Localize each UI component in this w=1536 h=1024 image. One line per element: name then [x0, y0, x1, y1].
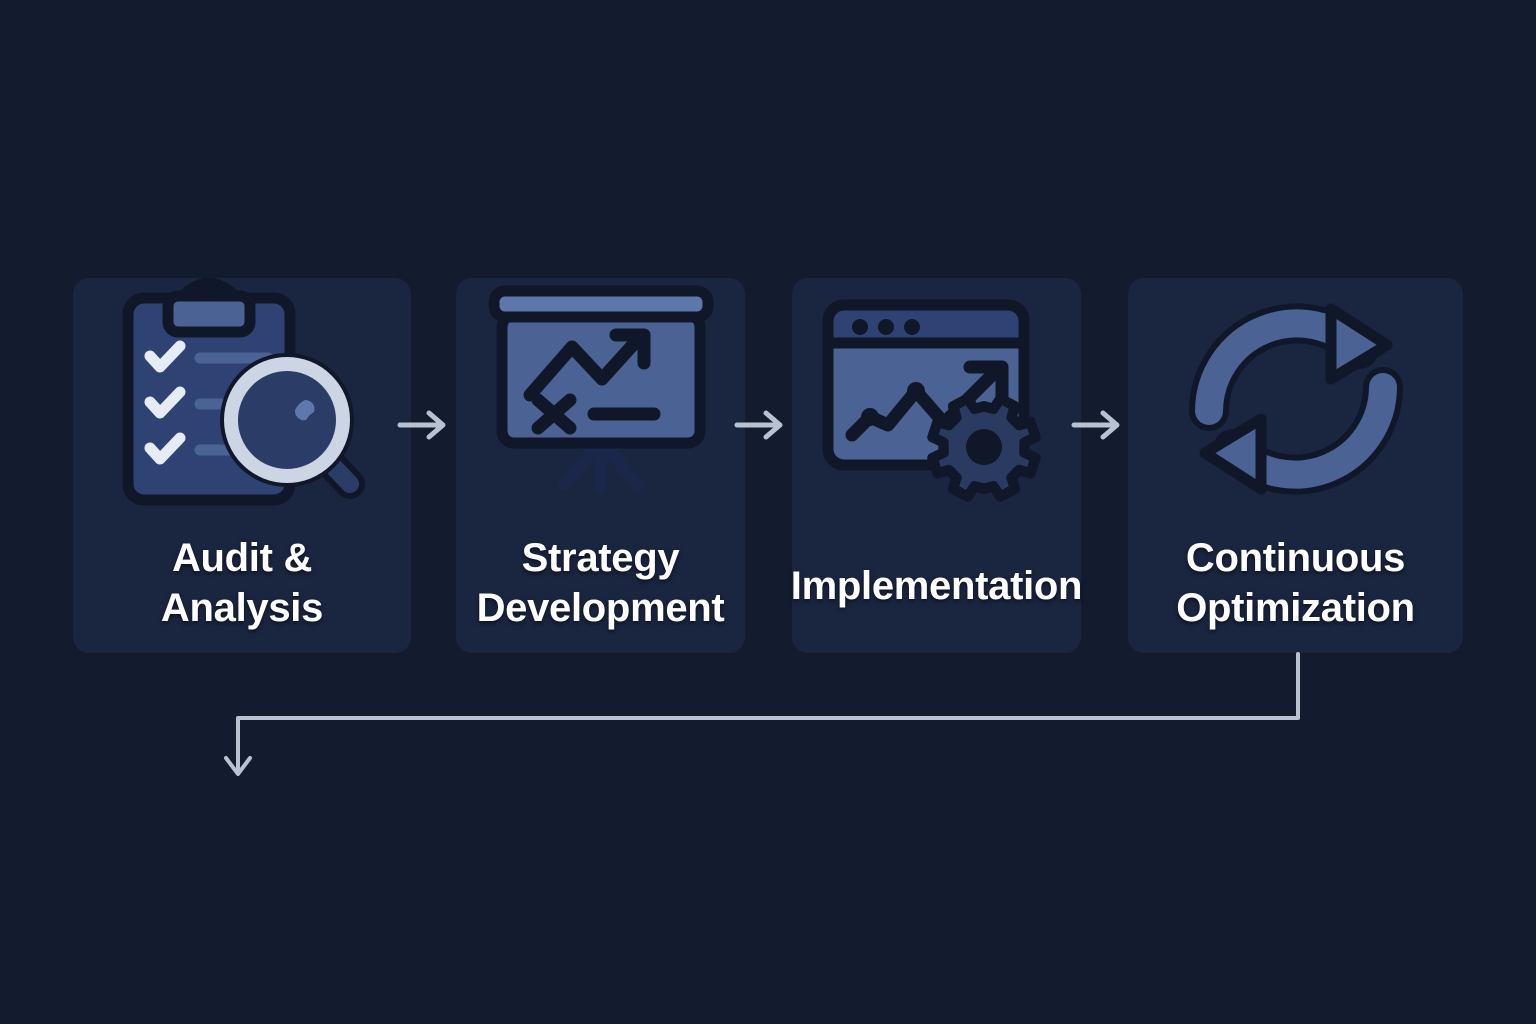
- process-step-label: Strategy Development: [416, 533, 785, 633]
- right-arrow-icon: [1070, 396, 1130, 454]
- titlebar-dots: [852, 319, 920, 335]
- clipboard-checklist-magnifier-icon: [73, 278, 411, 518]
- browser-window-chart-gear-icon: [792, 278, 1081, 518]
- process-step-label: Implementation: [752, 561, 1121, 611]
- process-step-label: Continuous Optimization: [1088, 533, 1503, 633]
- process-step-label: Audit & Analysis: [33, 533, 451, 633]
- presentation-board-svg: [476, 283, 726, 513]
- browser-chart-gear-svg: [812, 283, 1062, 513]
- feedback-loop-path: [200, 640, 1360, 810]
- process-step-card-implementation[interactable]: Implementation: [792, 278, 1081, 653]
- lower-arc-arrow: [1205, 387, 1383, 489]
- right-arrow-icon: [733, 396, 793, 454]
- diagram-canvas: Audit & Analysis: [0, 0, 1536, 1024]
- arrow-step1-to-step2: [396, 396, 456, 454]
- feedback-loop-arrow: [200, 640, 1360, 810]
- upper-arc-arrow: [1209, 309, 1387, 411]
- circular-refresh-arrows-icon: [1128, 278, 1463, 518]
- arrow-step2-to-step3: [733, 396, 793, 454]
- refresh-arrows-svg: [1181, 283, 1411, 513]
- process-step-card-audit-analysis[interactable]: Audit & Analysis: [73, 278, 411, 653]
- arrow-step3-to-step4: [1070, 396, 1130, 454]
- clipboard-magnifier-svg: [102, 278, 382, 518]
- right-arrow-icon: [396, 396, 456, 454]
- process-step-card-continuous-optimization[interactable]: Continuous Optimization: [1128, 278, 1463, 653]
- presentation-board-chart-icon: [456, 278, 745, 518]
- process-step-card-strategy-development[interactable]: Strategy Development: [456, 278, 745, 653]
